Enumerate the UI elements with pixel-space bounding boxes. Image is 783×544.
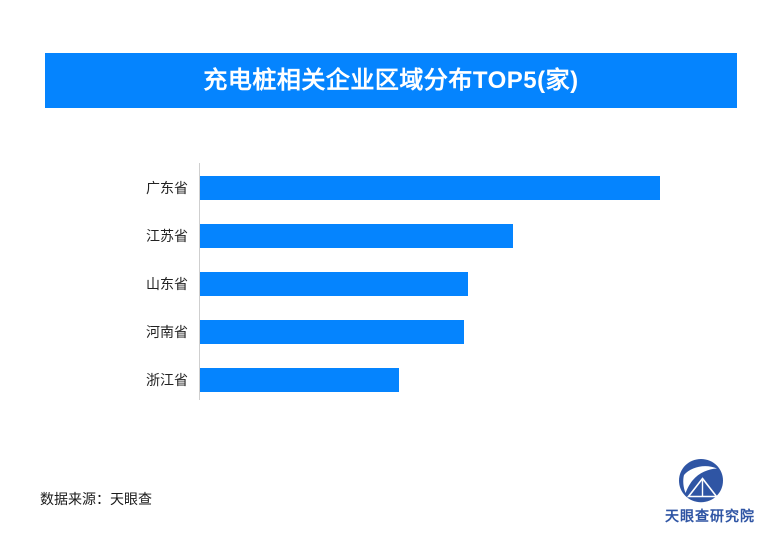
tianyancha-eye-logo-icon xyxy=(675,458,727,504)
bar-row: 浙江省 xyxy=(0,368,783,392)
bar-row: 江苏省 xyxy=(0,224,783,248)
bar-chart: 广东省 江苏省 山东省 河南省 浙江省 xyxy=(0,150,783,412)
bar-category-label: 山东省 xyxy=(60,272,188,296)
brand-block: 天眼查研究院 xyxy=(650,458,770,530)
bar-category-label: 浙江省 xyxy=(60,368,188,392)
title-banner: 充电桩相关企业区域分布TOP5(家) xyxy=(45,53,737,108)
bar-category-label: 广东省 xyxy=(60,176,188,200)
infographic-canvas: 充电桩相关企业区域分布TOP5(家) 广东省 江苏省 山东省 河南省 浙江省 数… xyxy=(0,0,783,544)
bar-value-浙江省 xyxy=(200,368,399,392)
page-title: 充电桩相关企业区域分布TOP5(家) xyxy=(203,69,578,93)
bar-category-label: 江苏省 xyxy=(60,224,188,248)
bar-row: 山东省 xyxy=(0,272,783,296)
data-source-note: 数据来源：天眼查 xyxy=(40,489,152,509)
bar-value-江苏省 xyxy=(200,224,513,248)
bar-row: 河南省 xyxy=(0,320,783,344)
brand-name: 天眼查研究院 xyxy=(650,506,770,526)
bar-category-label: 河南省 xyxy=(60,320,188,344)
bar-row: 广东省 xyxy=(0,176,783,200)
bar-value-河南省 xyxy=(200,320,464,344)
bar-value-广东省 xyxy=(200,176,660,200)
bar-value-山东省 xyxy=(200,272,468,296)
